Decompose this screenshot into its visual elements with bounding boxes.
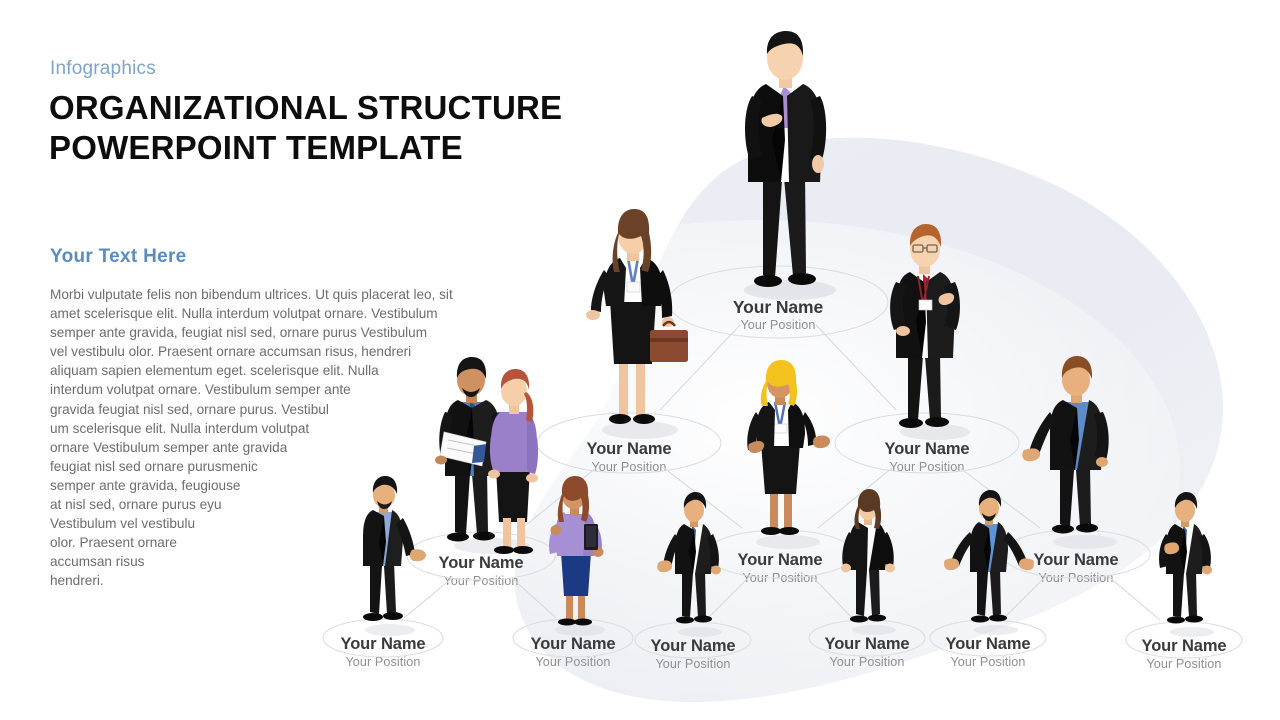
figure-pair-man-papers-woman — [435, 357, 538, 554]
figure-man-bluetie-small — [1159, 492, 1214, 637]
figure-man-suit-purple-tie — [744, 31, 836, 300]
figure-man-glasses-redtie — [890, 224, 970, 440]
org-chart-canvas — [0, 0, 1280, 720]
figure-man-profile-bearded — [363, 476, 426, 636]
figure-man-bearded-blue-shirt — [944, 490, 1034, 635]
figure-woman-blonde-presenting — [747, 360, 830, 549]
figure-man-brownhair-open-arm — [1022, 356, 1117, 549]
figure-man-small-openhand — [657, 492, 722, 637]
figure-woman-dark-suit-small — [841, 489, 896, 635]
figure-woman-briefcase — [586, 209, 688, 439]
slide-root: Infographics ORGANIZATIONAL STRUCTURE PO… — [0, 0, 1280, 720]
